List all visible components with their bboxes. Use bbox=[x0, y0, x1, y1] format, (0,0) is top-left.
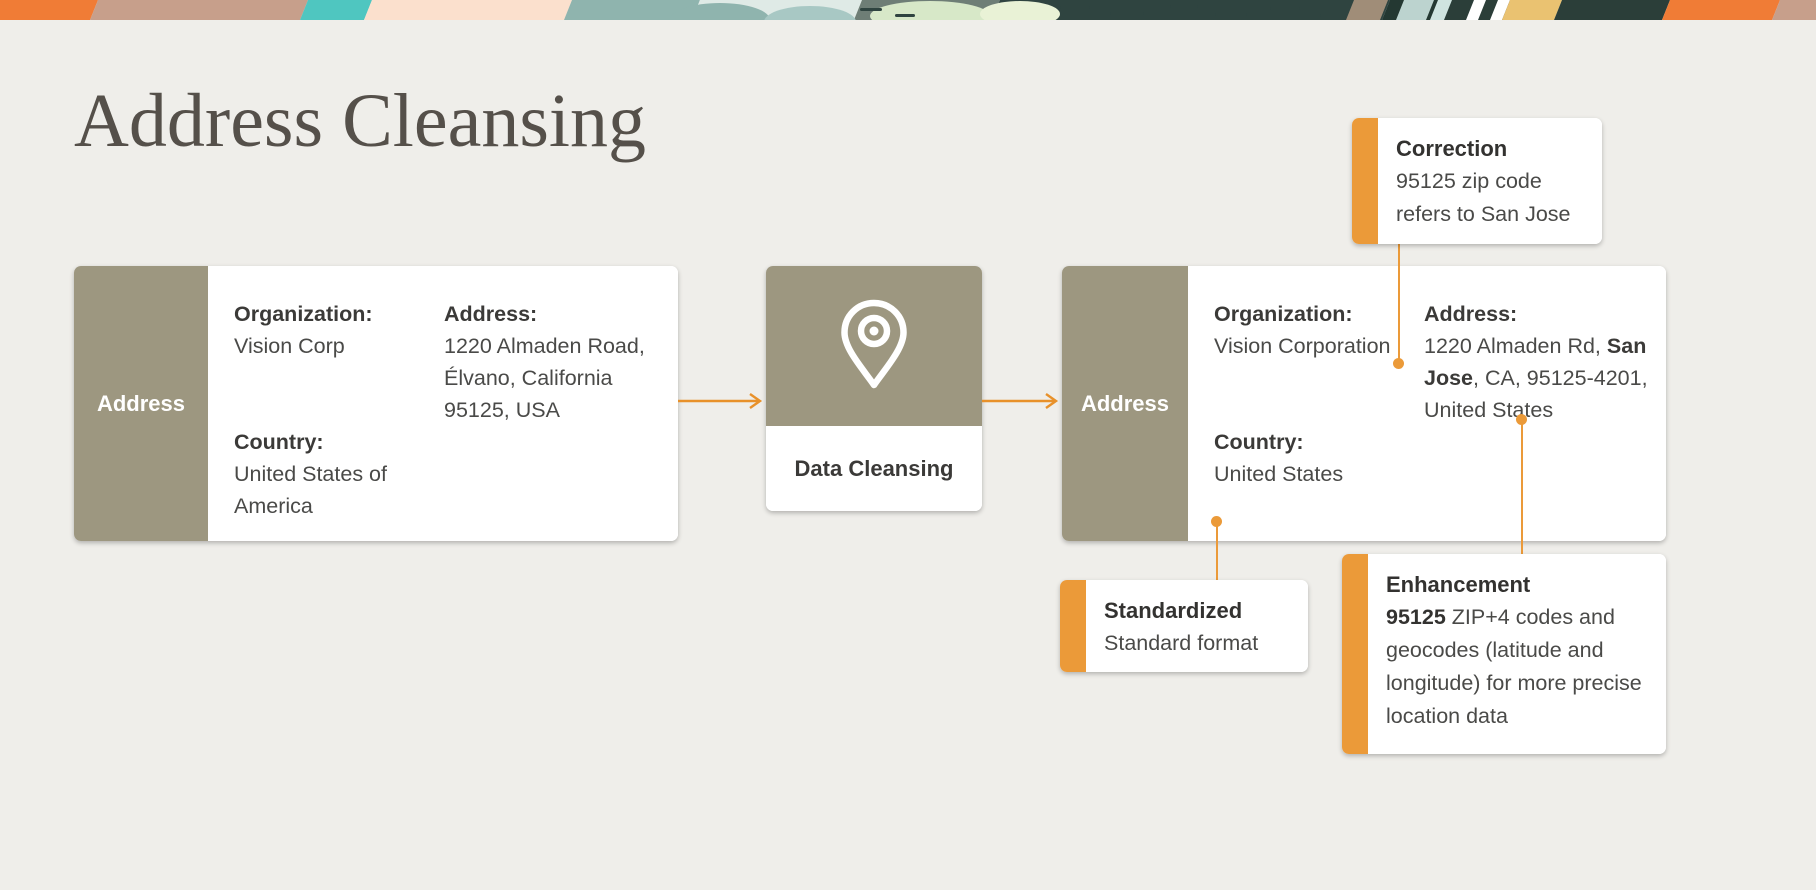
original-organization-column: Organization: Vision Corp Country: Unite… bbox=[234, 292, 444, 541]
arrow-original-to-process bbox=[678, 391, 768, 411]
callout-enhancement-zip: 95125 bbox=[1386, 605, 1446, 629]
page-title: Address Cleansing bbox=[74, 78, 646, 164]
callout-enhancement-title: Enhancement bbox=[1386, 568, 1648, 601]
address-card-cleansed: Address Organization: Vision Corporation… bbox=[1062, 266, 1666, 541]
address-card-original-body: Organization: Vision Corp Country: Unite… bbox=[208, 266, 678, 541]
original-address-value: 1220 Almaden Road, Élvano, California 95… bbox=[444, 330, 678, 426]
leader-enhancement-dot bbox=[1516, 414, 1527, 425]
callout-standardized-title: Standardized bbox=[1104, 594, 1290, 627]
map-pin-icon-area bbox=[766, 266, 982, 426]
callout-correction-text: 95125 zip code refers to San Jose bbox=[1396, 165, 1584, 231]
callout-standardized-text: Standard format bbox=[1104, 627, 1290, 660]
leader-standardized-line bbox=[1216, 526, 1218, 588]
callout-standardized-content: Standardized Standard format bbox=[1086, 580, 1308, 672]
slide-canvas: Address Cleansing Address Organization: … bbox=[0, 0, 1816, 890]
address-card-original-side-label: Address bbox=[74, 266, 208, 541]
leader-line-standardized bbox=[1210, 516, 1224, 586]
leader-correction-line bbox=[1398, 244, 1400, 364]
cleansed-address-value: 1220 Almaden Rd, San Jose, CA, 95125-420… bbox=[1424, 330, 1652, 426]
data-cleansing-label: Data Cleansing bbox=[766, 426, 982, 511]
callout-correction-content: Correction 95125 zip code refers to San … bbox=[1378, 118, 1602, 244]
leader-enhancement-line bbox=[1521, 420, 1523, 560]
leader-standardized-dot bbox=[1211, 516, 1222, 527]
decorative-banner bbox=[0, 0, 1816, 20]
callout-enhancement-content: Enhancement 95125 ZIP+4 codes and geocod… bbox=[1368, 554, 1666, 754]
data-cleansing-process-card: Data Cleansing bbox=[766, 266, 982, 511]
cleansed-address-label: Address: bbox=[1424, 298, 1652, 330]
callout-enhancement-accent-bar bbox=[1342, 554, 1368, 754]
original-organization-value: Vision Corp bbox=[234, 330, 444, 362]
leader-correction-dot bbox=[1393, 358, 1404, 369]
original-address-column: Address: 1220 Almaden Road, Élvano, Cali… bbox=[444, 292, 678, 541]
cleansed-address-line-1: 1220 Almaden Rd, bbox=[1424, 334, 1601, 358]
callout-enhancement: Enhancement 95125 ZIP+4 codes and geocod… bbox=[1342, 554, 1666, 754]
address-card-original: Address Organization: Vision Corp Countr… bbox=[74, 266, 678, 541]
arrow-process-to-cleansed bbox=[982, 391, 1064, 411]
address-card-cleansed-body: Organization: Vision Corporation Country… bbox=[1188, 266, 1666, 541]
map-pin-icon bbox=[837, 297, 911, 396]
original-address-label: Address: bbox=[444, 298, 678, 330]
callout-standardized-accent-bar bbox=[1060, 580, 1086, 672]
callout-correction: Correction 95125 zip code refers to San … bbox=[1352, 118, 1602, 244]
leader-line-correction bbox=[1392, 244, 1406, 366]
callout-enhancement-text: 95125 ZIP+4 codes and geocodes (latitude… bbox=[1386, 601, 1648, 733]
address-card-cleansed-side-label: Address bbox=[1062, 266, 1188, 541]
callout-correction-title: Correction bbox=[1396, 132, 1584, 165]
cleansed-country-label: Country: bbox=[1214, 426, 1424, 458]
leader-line-enhancement bbox=[1515, 414, 1529, 560]
original-country-label: Country: bbox=[234, 426, 444, 458]
original-organization-label: Organization: bbox=[234, 298, 444, 330]
callout-standardized: Standardized Standard format bbox=[1060, 580, 1308, 672]
callout-correction-accent-bar bbox=[1352, 118, 1378, 244]
original-country-value: United States of America bbox=[234, 458, 444, 522]
cleansed-address-state: , CA, bbox=[1473, 366, 1521, 390]
cleansed-country-value: United States bbox=[1214, 458, 1424, 490]
cleansed-address-column: Address: 1220 Almaden Rd, San Jose, CA, … bbox=[1424, 292, 1652, 541]
